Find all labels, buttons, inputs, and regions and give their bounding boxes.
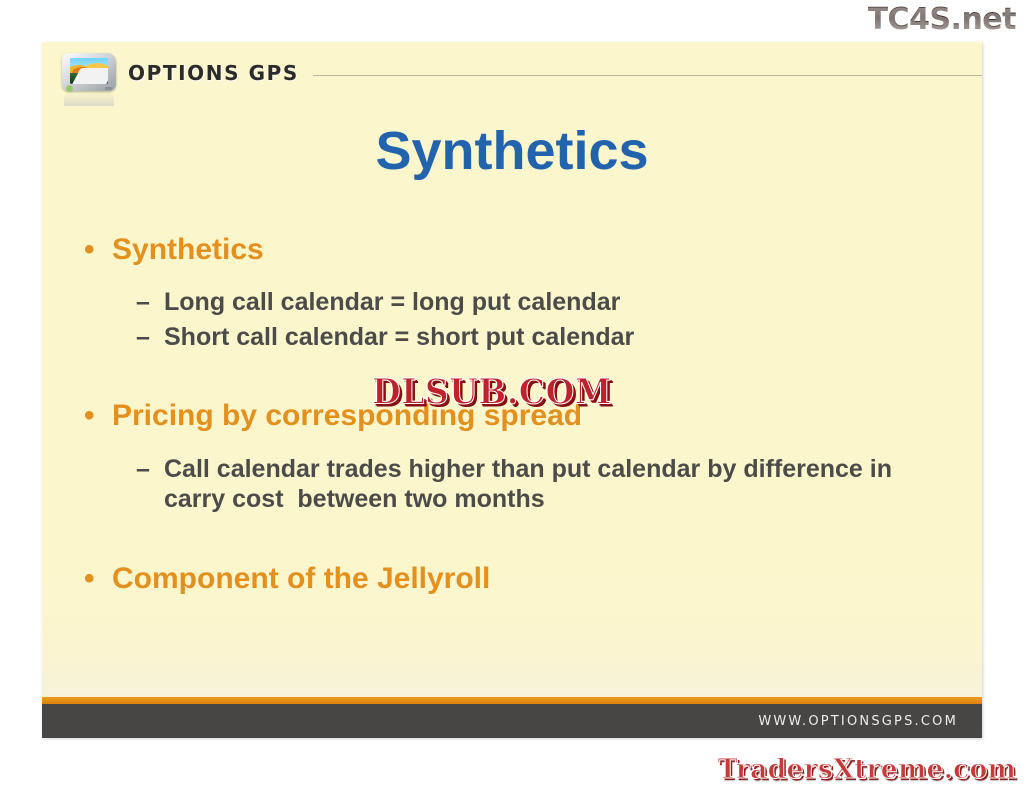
bullet-dot-icon: • bbox=[84, 398, 112, 433]
slide-header: Options GPS bbox=[42, 42, 982, 104]
footer-accent-bar bbox=[42, 697, 982, 704]
bullet-text: Synthetics bbox=[112, 232, 264, 267]
bullet-text: Component of the Jellyroll bbox=[112, 561, 490, 596]
tradersxtreme-brand-watermark: TradersXtreme.com bbox=[718, 754, 1016, 785]
bullet-dash-icon: – bbox=[136, 287, 164, 318]
slide-body: • Synthetics – Long call calendar = long… bbox=[84, 232, 952, 600]
bullet-text: Call calendar trades higher than put cal… bbox=[164, 454, 944, 515]
bullet-level2: – Long call calendar = long put calendar bbox=[136, 287, 952, 318]
bullet-text: Short call calendar = short put calendar bbox=[164, 322, 944, 353]
logo-wordmark: Options GPS bbox=[128, 61, 299, 85]
gps-device-icon bbox=[62, 53, 116, 93]
bullet-dot-icon: • bbox=[84, 561, 112, 596]
bullet-dash-icon: – bbox=[136, 322, 164, 353]
bullet-level1: • Component of the Jellyroll bbox=[84, 561, 952, 596]
bullet-text: Long call calendar = long put calendar bbox=[164, 287, 944, 318]
bullet-level2: – Call calendar trades higher than put c… bbox=[136, 454, 952, 515]
footer-url: www.OptionsGPS.com bbox=[758, 714, 958, 729]
tc4s-brand-watermark: TC4S.net bbox=[868, 2, 1016, 37]
slide-footer: www.OptionsGPS.com bbox=[42, 704, 982, 738]
slide-title: Synthetics bbox=[42, 120, 982, 182]
dlsub-watermark: DLSUB.COM bbox=[372, 371, 612, 412]
bullet-level2: – Short call calendar = short put calend… bbox=[136, 322, 952, 353]
bullet-dash-icon: – bbox=[136, 454, 164, 485]
presentation-slide: Options GPS Synthetics • Synthetics – Lo… bbox=[42, 42, 982, 738]
bullet-dot-icon: • bbox=[84, 232, 112, 267]
bullet-level1: • Synthetics bbox=[84, 232, 952, 267]
header-divider bbox=[313, 75, 982, 76]
